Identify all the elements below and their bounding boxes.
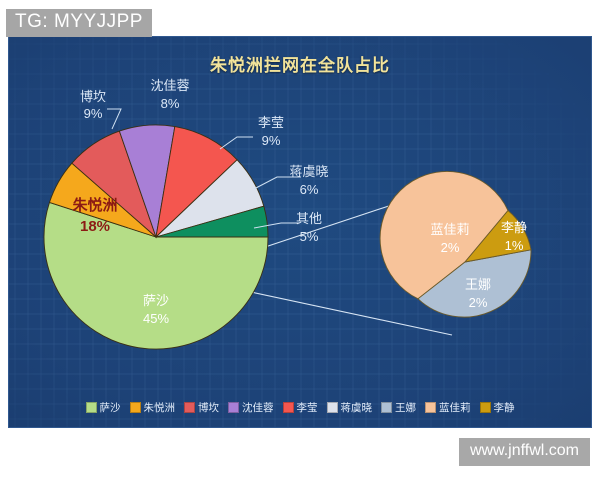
- label-bokan-name: 博坎: [80, 90, 106, 105]
- legend-label: 博坎: [198, 400, 219, 415]
- legend-item-8[interactable]: 李静: [480, 400, 515, 415]
- label-jiangyuxiao-name: 蒋虞晓: [289, 165, 328, 180]
- legend-item-2[interactable]: 博坎: [184, 400, 219, 415]
- label-bokan-pct: 9%: [84, 106, 103, 121]
- label-jiangyuxiao-pct: 6%: [300, 182, 319, 197]
- legend-swatch-icon: [130, 402, 141, 413]
- legend-swatch-icon: [86, 402, 97, 413]
- label-zhuyuezhou-pct: 18%: [80, 218, 110, 235]
- legend-swatch-icon: [425, 402, 436, 413]
- legend-label: 李静: [494, 400, 515, 415]
- legend-swatch-icon: [228, 402, 239, 413]
- legend-label: 李莹: [297, 400, 318, 415]
- label-liying-pct: 9%: [262, 133, 281, 148]
- label-sasha-name: 萨沙: [143, 294, 169, 309]
- label-lanjiali-pct: 2%: [441, 240, 460, 255]
- leader-liying: [220, 137, 253, 149]
- label-sasha-pct: 45%: [143, 311, 169, 326]
- legend-label: 朱悦洲: [144, 400, 176, 415]
- legend-label: 蒋虞晓: [341, 400, 373, 415]
- legend-swatch-icon: [184, 402, 195, 413]
- legend-item-1[interactable]: 朱悦洲: [130, 400, 176, 415]
- label-wangna-pct: 2%: [469, 295, 488, 310]
- watermark: www.jnffwl.com: [459, 438, 590, 466]
- label-zhuyuezhou-name: 朱悦洲: [72, 196, 117, 214]
- leader-bokan: [107, 109, 121, 129]
- label-other-pct: 5%: [300, 229, 319, 244]
- label-other-name: 其他: [296, 212, 322, 227]
- legend-item-0[interactable]: 萨沙: [86, 400, 121, 415]
- tg-tag: TG: MYYJJPP: [6, 9, 152, 37]
- label-lanjiali-name: 蓝佳莉: [430, 223, 469, 238]
- legend-item-7[interactable]: 蓝佳莉: [425, 400, 471, 415]
- pie-of-pie-plot: 萨沙 45% 朱悦洲 18% 博坎 9% 沈佳蓉 8% 李莹 9% 蒋虞晓 6%…: [9, 37, 592, 428]
- chart-legend: 萨沙朱悦洲博坎沈佳蓉李莹蒋虞晓王娜蓝佳莉李静: [9, 400, 591, 415]
- legend-item-4[interactable]: 李莹: [283, 400, 318, 415]
- legend-item-6[interactable]: 王娜: [381, 400, 416, 415]
- legend-swatch-icon: [480, 402, 491, 413]
- label-shenjiarong-name: 沈佳蓉: [150, 79, 189, 94]
- legend-label: 蓝佳莉: [439, 400, 471, 415]
- label-shenjiarong-pct: 8%: [161, 96, 180, 111]
- label-lijing-name: 李静: [501, 221, 527, 236]
- legend-label: 沈佳蓉: [242, 400, 274, 415]
- legend-swatch-icon: [381, 402, 392, 413]
- legend-label: 王娜: [395, 400, 416, 415]
- label-wangna-name: 王娜: [465, 278, 491, 293]
- label-lijing-pct: 1%: [505, 238, 524, 253]
- label-liying-name: 李莹: [258, 116, 284, 131]
- legend-swatch-icon: [283, 402, 294, 413]
- legend-item-5[interactable]: 蒋虞晓: [327, 400, 373, 415]
- chart-canvas: 朱悦洲拦网在全队占比 萨沙 45% 朱悦洲 18% 博坎: [8, 36, 592, 428]
- legend-item-3[interactable]: 沈佳蓉: [228, 400, 274, 415]
- legend-swatch-icon: [327, 402, 338, 413]
- legend-label: 萨沙: [100, 400, 121, 415]
